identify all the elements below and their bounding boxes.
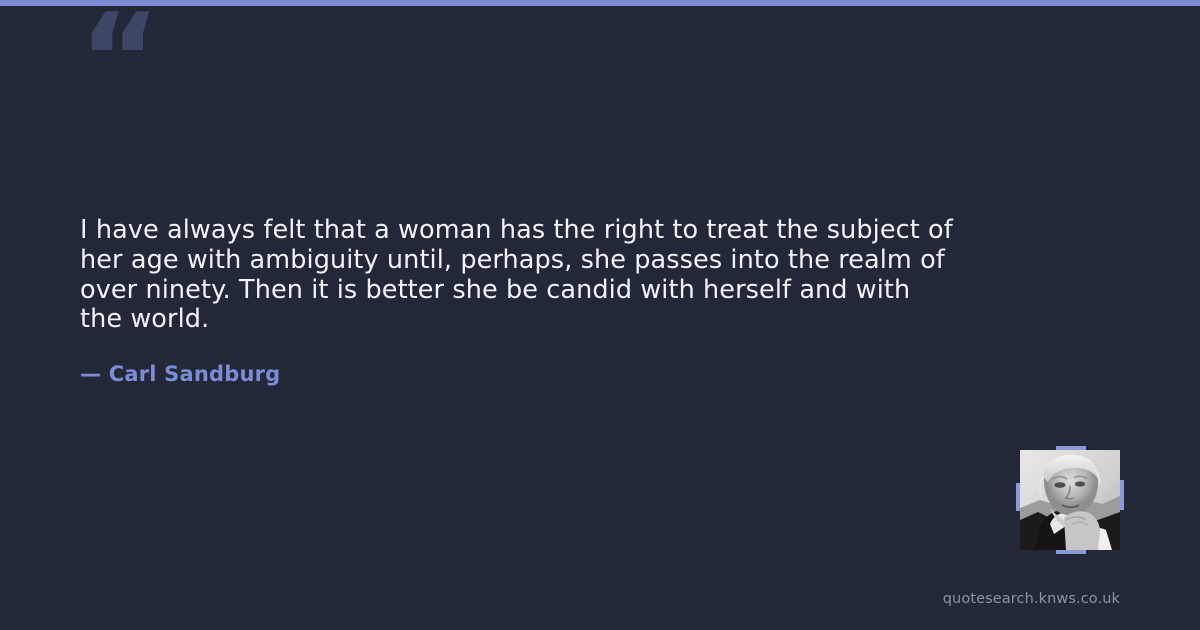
site-watermark: quotesearch.knws.co.uk xyxy=(943,591,1120,607)
author-portrait-container xyxy=(1020,450,1120,550)
portrait-accent-bottom xyxy=(1056,550,1086,554)
quote-author: — Carl Sandburg xyxy=(80,362,280,386)
quote-line: I have always felt that a woman has the … xyxy=(80,216,1040,246)
quote-line: the world. xyxy=(80,305,1040,335)
quote-line: over ninety. Then it is better she be ca… xyxy=(80,276,1040,306)
open-quote-icon: “ xyxy=(79,0,159,122)
quote-text: I have always felt that a woman has the … xyxy=(80,216,1040,335)
quote-card: “ I have always felt that a woman has th… xyxy=(0,0,1200,630)
quote-line: her age with ambiguity until, perhaps, s… xyxy=(80,246,1040,276)
portrait-accent-right xyxy=(1120,480,1124,510)
top-accent-bar xyxy=(0,0,1200,6)
author-portrait-image xyxy=(1020,450,1120,550)
